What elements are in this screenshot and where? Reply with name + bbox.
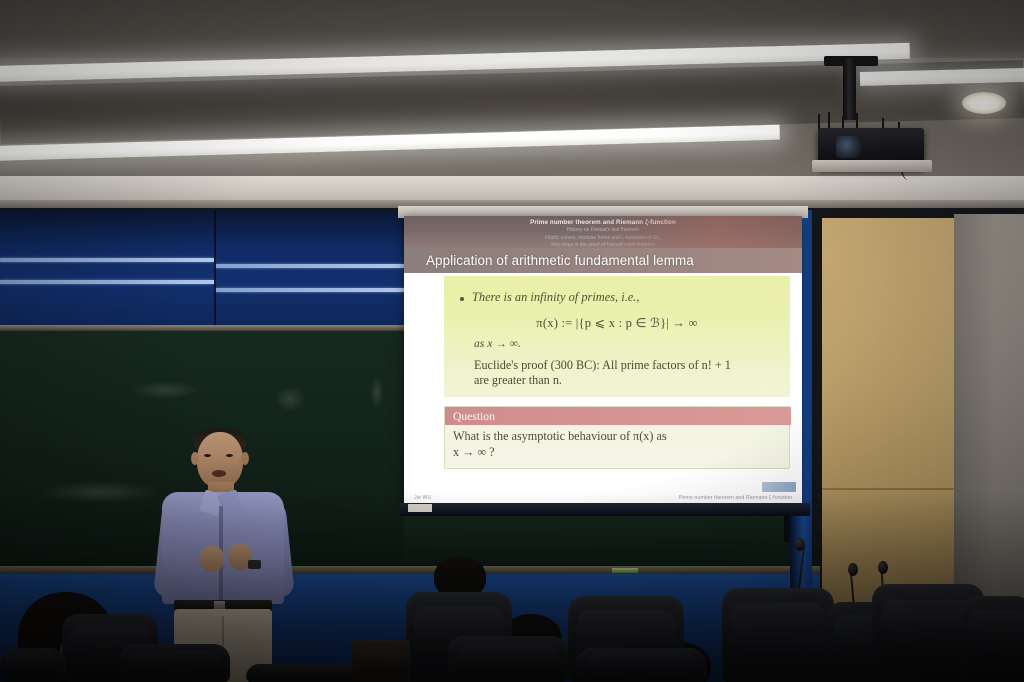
slide-euclide-proof: Euclide's proof (300 BC): All prime fact…: [474, 358, 784, 388]
presenter-wristwatch: [248, 560, 261, 569]
lecture-hall-desk[interactable]: [352, 640, 410, 682]
slide-title: Application of arithmetic fundamental le…: [404, 253, 694, 268]
gooseneck-microphone-head-2: [848, 563, 858, 576]
grey-wall-shading: [954, 214, 1024, 624]
recessed-downlight-icon: [962, 92, 1006, 114]
slide-formula: π(x) := |{p ⩽ x : p ∈ ℬ}| → ∞: [444, 315, 790, 331]
question-box-body: What is the asymptotic behaviour of π(x)…: [453, 428, 783, 460]
slide-footer-subject: Prime number theorem and Riemann ζ-funct…: [679, 495, 792, 501]
slide-institution-logo: [762, 482, 796, 492]
wood-panel-seam: [822, 488, 954, 490]
nav-header-line-1: Prime number theorem and Riemann ζ-funct…: [404, 219, 802, 226]
presenter-eye-left: [204, 454, 211, 457]
euclide-line-2: are greater than n.: [474, 373, 784, 388]
presenter-eye-right: [226, 454, 233, 457]
projection-screen-bottom-bar: [400, 503, 810, 516]
projection-screen-pull-tab[interactable]: [408, 504, 432, 512]
projection-screen[interactable]: Prime number theorem and Riemann ζ-funct…: [404, 216, 802, 506]
question-line-1: What is the asymptotic behaviour of π(x)…: [453, 428, 783, 444]
presentation-slide: Prime number theorem and Riemann ζ-funct…: [404, 216, 802, 506]
wall-panel-seam: [214, 210, 216, 328]
gooseneck-microphone-head-1: [795, 538, 805, 551]
blue-wall-panel-upper: [0, 210, 404, 328]
wall-stripe-4: [216, 288, 404, 292]
lecture-hall-seat-5[interactable]: [722, 588, 834, 682]
projector-lens-icon: [836, 136, 862, 158]
lecture-hall-seat-10[interactable]: [120, 644, 230, 682]
presenter-ear-left: [191, 452, 199, 465]
question-box-header: Question: [445, 407, 791, 425]
presenter-ear-right: [241, 452, 249, 465]
lecture-hall-photo: Prime number theorem and Riemann ζ-funct…: [0, 0, 1024, 682]
presenter-hand-left: [200, 546, 224, 572]
lecture-hall-seat-4[interactable]: [576, 648, 706, 682]
wall-stripe-1: [0, 258, 214, 262]
nav-header-line-2: History on Fermat's last theorem: [404, 227, 802, 233]
lecture-hall-seat-11[interactable]: [0, 648, 66, 682]
lecture-hall-seat-8[interactable]: [962, 596, 1024, 682]
wall-stripe-2: [0, 280, 214, 284]
wall-stripe-3: [216, 264, 404, 268]
slide-as-x-line: as x → ∞.: [474, 337, 521, 350]
wood-wall-panel: [822, 218, 954, 624]
projector-mount-tray: [812, 160, 932, 172]
lecture-hall-seat-2[interactable]: [448, 636, 568, 682]
slide-bullet-row: There is an infinity of primes, i.e.,: [460, 290, 780, 305]
chalkboard-clip: [612, 568, 638, 573]
gooseneck-microphone-head-3: [878, 561, 888, 574]
slide-content-block: There is an infinity of primes, i.e., π(…: [444, 276, 790, 397]
presenter-mouth: [212, 470, 226, 477]
nav-header-line-3: Elliptic curves, modular forms and L-fun…: [404, 235, 802, 241]
slide-title-bar: Application of arithmetic fundamental le…: [404, 248, 802, 273]
presenter: [150, 420, 310, 682]
projector-mount-pole: [843, 58, 856, 120]
slide-question-box: Question What is the asymptotic behaviou…: [444, 406, 790, 469]
question-line-2: x → ∞ ?: [453, 444, 783, 460]
presenter-head: [197, 432, 243, 488]
euclide-line-1: Euclide's proof (300 BC): All prime fact…: [474, 358, 784, 373]
slide-bullet-text: There is an infinity of primes, i.e.,: [472, 290, 640, 305]
bullet-dot-icon: [460, 297, 464, 301]
slide-footer-author: Jie WU: [414, 495, 431, 501]
